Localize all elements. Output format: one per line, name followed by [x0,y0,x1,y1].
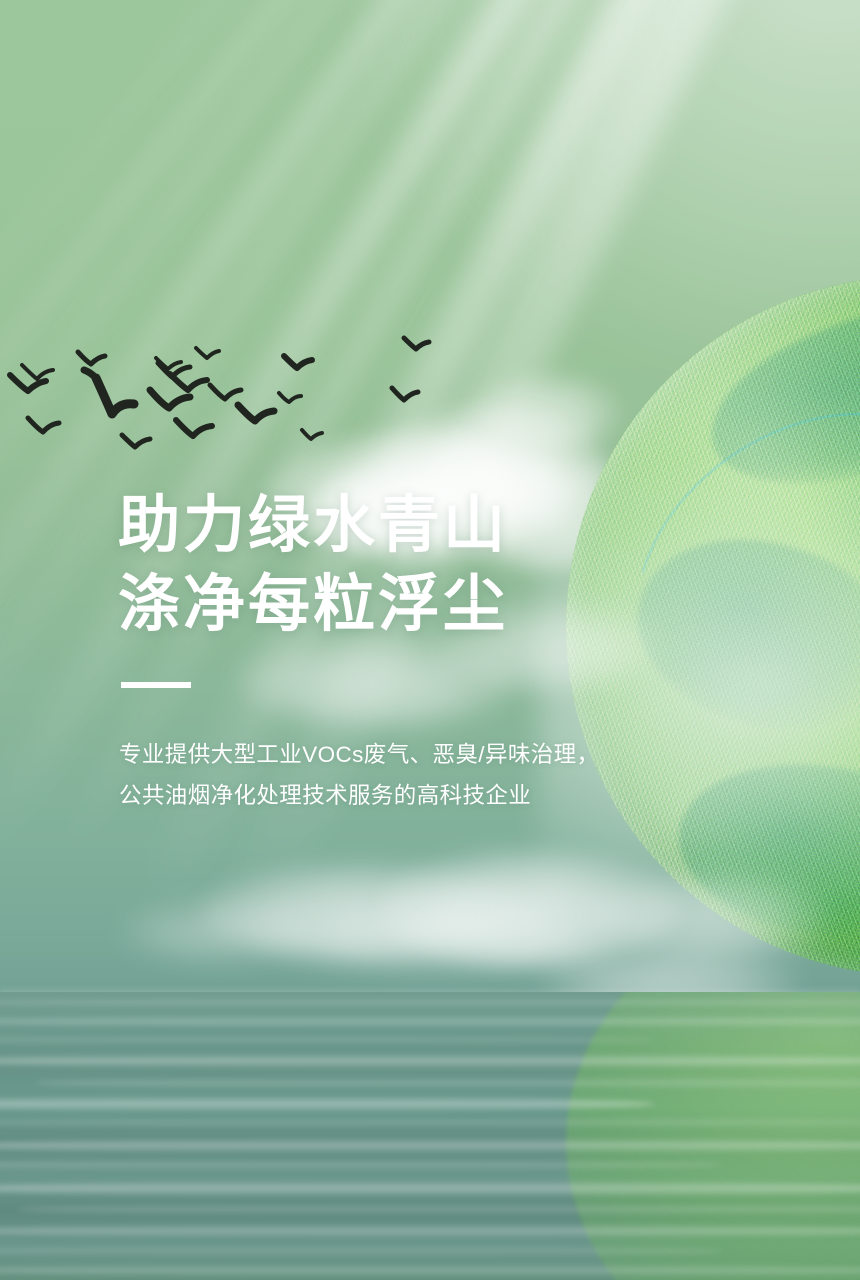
water-surface [0,992,860,1280]
water-wave [0,1096,654,1112]
water-wave [0,1180,860,1197]
water-wave [0,1264,860,1277]
globe-landmass [670,752,860,948]
cloud [590,872,830,960]
water-wave [0,1138,860,1153]
headline-line-2: 涤净每粒浮尘 [118,565,678,644]
title-divider [121,682,191,688]
reflection-texture [566,992,860,1280]
water-wave [0,1054,860,1068]
water-wave [0,1246,722,1256]
water-wave [17,1204,860,1215]
water-wave [0,1224,860,1238]
water-wave [0,1160,722,1170]
birds-flock [0,330,470,460]
cloud [380,848,680,968]
globe-landmass [692,281,860,508]
corner-glow [340,0,860,400]
water-wave [0,1016,860,1027]
globe-reflection [566,992,860,1280]
cloud [470,372,620,452]
headline-line-1: 助力绿水青山 [118,486,678,565]
cloud [540,946,800,1016]
cloud [250,912,610,970]
cloud [200,862,520,958]
water-wave [0,1118,860,1127]
horizon-line [0,988,860,1000]
subtitle-line-2: 公共油烟净化处理技术服务的高科技企业 [119,775,678,816]
cloud [120,900,320,960]
water-wave [0,998,860,1007]
globe-coastline [728,527,860,976]
water-haze [0,992,860,1280]
subtitle-line-1: 专业提供大型工业VOCs废气、恶臭/异味治理， [119,734,678,775]
banner-text-block: 助力绿水青山 涤净每粒浮尘 专业提供大型工业VOCs废气、恶臭/异味治理， 公共… [118,486,678,816]
water-wave [0,1036,654,1044]
water-wave [34,1078,860,1088]
eco-promo-banner: 助力绿水青山 涤净每粒浮尘 专业提供大型工业VOCs废气、恶臭/异味治理， 公共… [0,0,860,1280]
